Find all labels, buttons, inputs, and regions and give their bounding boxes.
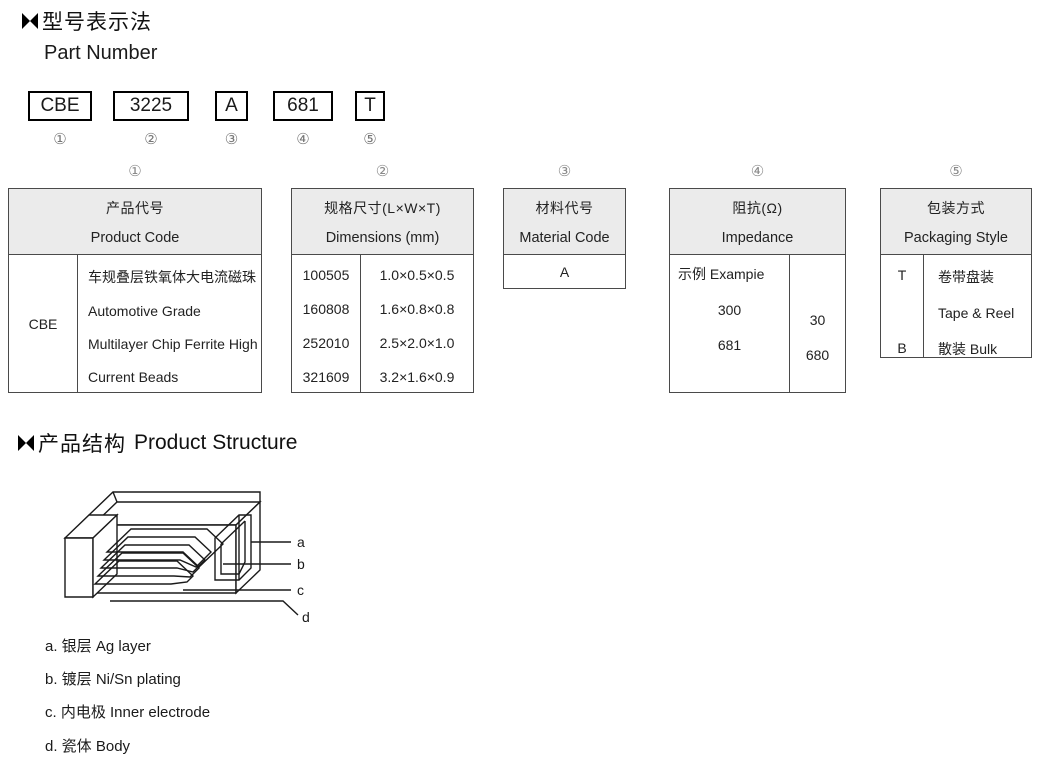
table-row: 3.2×1.6×0.9 bbox=[361, 369, 473, 385]
callout-label-c: c bbox=[297, 582, 304, 598]
packaging-row-2-cn: 散装 Bulk bbox=[938, 339, 1031, 359]
part-number-heading-en: Part Number bbox=[44, 42, 157, 65]
table-row: 300 bbox=[670, 302, 789, 318]
diamond-bullet-icon-2 bbox=[18, 435, 34, 451]
material-code-value: A bbox=[560, 264, 569, 280]
part-number-marker-3: ③ bbox=[215, 130, 248, 148]
part-number-marker-1: ① bbox=[28, 130, 92, 148]
dimensions-header-cn: 规格尺寸(L×W×T) bbox=[324, 198, 441, 218]
callout-label-d: d bbox=[302, 609, 310, 623]
product-code-value: CBE bbox=[29, 316, 58, 332]
dimensions-header-en: Dimensions (mm) bbox=[326, 230, 440, 246]
part-number-heading: 型号表示法 bbox=[22, 6, 152, 36]
left-terminal-front bbox=[65, 538, 93, 597]
packaging-row-1-cn: 卷带盘装 bbox=[938, 267, 1031, 287]
dimensions-table: 规格尺寸(L×W×T) Dimensions (mm) 100505 16080… bbox=[291, 188, 474, 393]
table-marker-2: ② bbox=[291, 162, 474, 180]
product-code-desc-line-3: Multilayer Chip Ferrite High bbox=[88, 336, 261, 352]
table-marker-3: ③ bbox=[503, 162, 626, 180]
part-number-box-5[interactable]: T bbox=[355, 91, 385, 121]
packaging-row-1-en: Tape & Reel bbox=[938, 305, 1031, 321]
structure-svg: a b c d bbox=[55, 468, 355, 623]
part-number-box-4-value: 681 bbox=[287, 95, 319, 117]
table-row: 1.6×0.8×0.8 bbox=[361, 301, 473, 317]
product-code-value-cell: CBE bbox=[9, 255, 77, 392]
table-row: 681 bbox=[670, 337, 789, 353]
material-code-table: 材料代号 Material Code A bbox=[503, 188, 626, 289]
table-row: 100505 bbox=[292, 267, 360, 283]
part-number-box-1-value: CBE bbox=[40, 95, 79, 117]
structure-legend-item-c: c. 内电极 Inner electrode bbox=[45, 701, 210, 722]
structure-legend-item-d: d. 瓷体 Body bbox=[45, 735, 130, 756]
part-number-box-2[interactable]: 3225 bbox=[113, 91, 189, 121]
table-marker-1: ① bbox=[8, 162, 262, 180]
part-number-box-2-value: 3225 bbox=[130, 95, 172, 117]
structure-legend-item-b: b. 镀层 Ni/Sn plating bbox=[45, 668, 181, 689]
material-code-header-cn: 材料代号 bbox=[536, 198, 594, 218]
packaging-style-table-body: T B 卷带盘装 Tape & Reel 散装 Bulk bbox=[881, 255, 1031, 357]
callout-leader-d bbox=[110, 601, 298, 615]
part-number-heading-cn: 型号表示法 bbox=[42, 6, 152, 36]
dimensions-size-column: 1.0×0.5×0.5 1.6×0.8×0.8 2.5×2.0×1.0 3.2×… bbox=[360, 255, 473, 392]
part-number-box-4[interactable]: 681 bbox=[273, 91, 333, 121]
impedance-example-label: 示例 Exampie bbox=[678, 264, 789, 284]
product-code-table: 产品代号 Product Code CBE 车规叠层铁氧体大电流磁珠 Autom… bbox=[8, 188, 262, 393]
product-code-header-en: Product Code bbox=[91, 230, 180, 246]
dimensions-code-column: 100505 160808 252010 321609 bbox=[292, 255, 360, 392]
impedance-code-column: 示例 Exampie 300 681 bbox=[670, 255, 789, 392]
callout-label-a: a bbox=[297, 534, 305, 550]
table-row: 1.0×0.5×0.5 bbox=[361, 267, 473, 283]
product-structure-diagram: a b c d bbox=[55, 468, 355, 623]
dimensions-table-body: 100505 160808 252010 321609 1.0×0.5×0.5 … bbox=[292, 255, 473, 392]
table-row: 321609 bbox=[292, 369, 360, 385]
part-number-marker-4: ④ bbox=[273, 130, 333, 148]
table-marker-5: ⑤ bbox=[880, 162, 1032, 180]
material-code-header-en: Material Code bbox=[519, 230, 609, 246]
packaging-label-column: 卷带盘装 Tape & Reel 散装 Bulk bbox=[923, 255, 1031, 357]
material-code-table-header: 材料代号 Material Code bbox=[504, 189, 625, 255]
impedance-table-header: 阻抗(Ω) Impedance bbox=[670, 189, 845, 255]
product-structure-heading-cn: 产品结构 bbox=[38, 428, 126, 458]
packaging-code-column: T B bbox=[881, 255, 923, 357]
part-number-box-1[interactable]: CBE bbox=[28, 91, 92, 121]
product-code-header-cn: 产品代号 bbox=[106, 198, 164, 218]
impedance-header-en: Impedance bbox=[722, 230, 794, 246]
impedance-table: 阻抗(Ω) Impedance 示例 Exampie 300 681 30 68… bbox=[669, 188, 846, 393]
product-code-table-header: 产品代号 Product Code bbox=[9, 189, 261, 255]
packaging-style-header-en: Packaging Style bbox=[904, 230, 1008, 246]
product-code-desc-line-4: Current Beads bbox=[88, 369, 261, 385]
callout-label-b: b bbox=[297, 556, 305, 572]
part-number-marker-2: ② bbox=[113, 130, 189, 148]
part-number-marker-5: ⑤ bbox=[355, 130, 385, 148]
impedance-ohms-column: 30 680 bbox=[789, 255, 845, 392]
diamond-bullet-icon bbox=[22, 13, 38, 29]
packaging-style-table: 包装方式 Packaging Style T B 卷带盘装 Tape & Ree… bbox=[880, 188, 1032, 358]
impedance-header-cn: 阻抗(Ω) bbox=[732, 198, 782, 218]
table-marker-4: ④ bbox=[669, 162, 846, 180]
product-code-table-body: CBE 车规叠层铁氧体大电流磁珠 Automotive Grade Multil… bbox=[9, 255, 261, 392]
part-number-box-3-value: A bbox=[225, 95, 238, 117]
product-code-description-cell: 车规叠层铁氧体大电流磁珠 Automotive Grade Multilayer… bbox=[77, 255, 261, 392]
body-top-face bbox=[93, 502, 260, 525]
product-code-desc-line-1: 车规叠层铁氧体大电流磁珠 bbox=[88, 267, 261, 287]
table-row: T bbox=[881, 267, 923, 283]
dimensions-table-header: 规格尺寸(L×W×T) Dimensions (mm) bbox=[292, 189, 473, 255]
table-row: 160808 bbox=[292, 301, 360, 317]
left-terminal-wrap-edge-2 bbox=[113, 492, 117, 502]
impedance-table-body: 示例 Exampie 300 681 30 680 bbox=[670, 255, 845, 392]
table-row: B bbox=[881, 340, 923, 356]
packaging-style-header-cn: 包装方式 bbox=[927, 198, 985, 218]
product-structure-heading: 产品结构 Product Structure bbox=[18, 428, 297, 458]
structure-legend-item-a: a. 银层 Ag layer bbox=[45, 635, 151, 656]
table-row: 2.5×2.0×1.0 bbox=[361, 335, 473, 351]
table-row: 30 bbox=[790, 312, 845, 328]
product-code-desc-line-2: Automotive Grade bbox=[88, 303, 261, 319]
part-number-box-3[interactable]: A bbox=[215, 91, 248, 121]
table-row: 680 bbox=[790, 347, 845, 363]
packaging-style-table-header: 包装方式 Packaging Style bbox=[881, 189, 1031, 255]
material-code-value-cell: A bbox=[504, 255, 625, 288]
part-number-box-5-value: T bbox=[364, 95, 376, 117]
product-structure-heading-en: Product Structure bbox=[134, 431, 297, 455]
table-row: 252010 bbox=[292, 335, 360, 351]
